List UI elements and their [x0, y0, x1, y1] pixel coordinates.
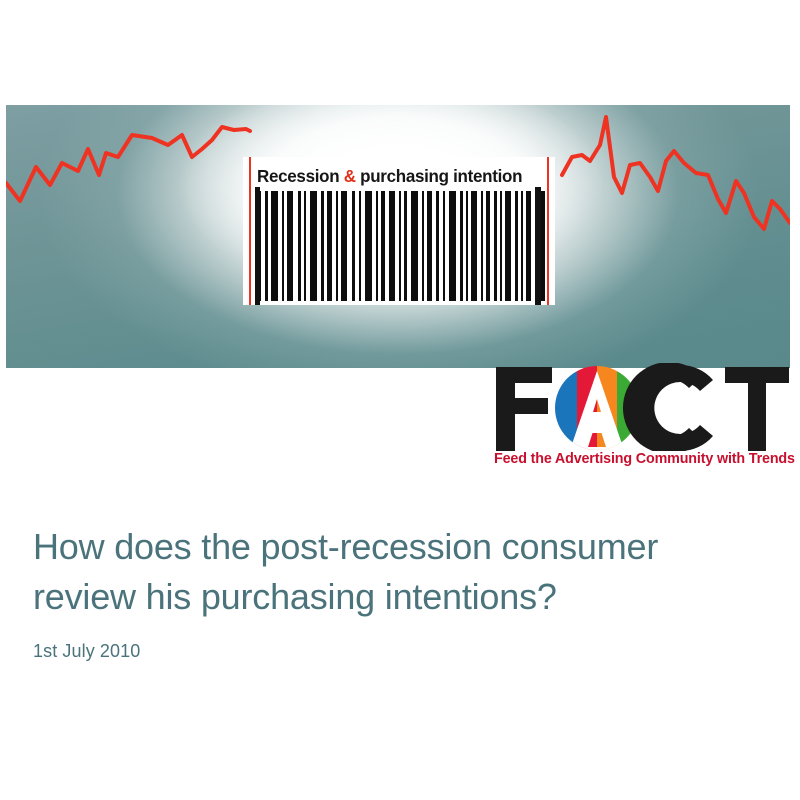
chart-line-right: [562, 117, 790, 229]
barcode-edge-red-right: [547, 157, 549, 305]
barcode-label: Recession & purchasing intention: [257, 163, 534, 189]
logo-letter-f: [496, 367, 552, 451]
logo-letter-t: [725, 367, 789, 451]
title-line-2: review his purchasing intentions?: [33, 576, 557, 617]
barcode-edge-red-left: [249, 157, 251, 305]
barcode-bars: [255, 191, 545, 301]
title-block: How does the post-recession consumer rev…: [33, 522, 773, 662]
title-line-1: How does the post-recession consumer: [33, 526, 658, 567]
barcode-guide-left: [255, 187, 260, 305]
page-title: How does the post-recession consumer rev…: [33, 522, 773, 622]
wedge-blue: [555, 366, 577, 450]
barcode-guide-right: [535, 187, 541, 305]
barcode-graphic: Recession & purchasing intention: [243, 157, 555, 305]
hero-banner: Recession & purchasing intention: [6, 105, 790, 368]
chart-line-left: [6, 127, 250, 201]
barcode-label-pre: Recession: [257, 166, 344, 186]
barcode-label-ampersand: &: [344, 166, 356, 186]
logo-tagline: Feed the Advertising Community with Tren…: [494, 451, 786, 467]
barcode-label-post: purchasing intention: [356, 166, 522, 186]
fact-wordmark: [492, 363, 792, 451]
fact-logo: Feed the Advertising Community with Tren…: [492, 363, 792, 481]
slide-date: 1st July 2010: [33, 640, 773, 662]
